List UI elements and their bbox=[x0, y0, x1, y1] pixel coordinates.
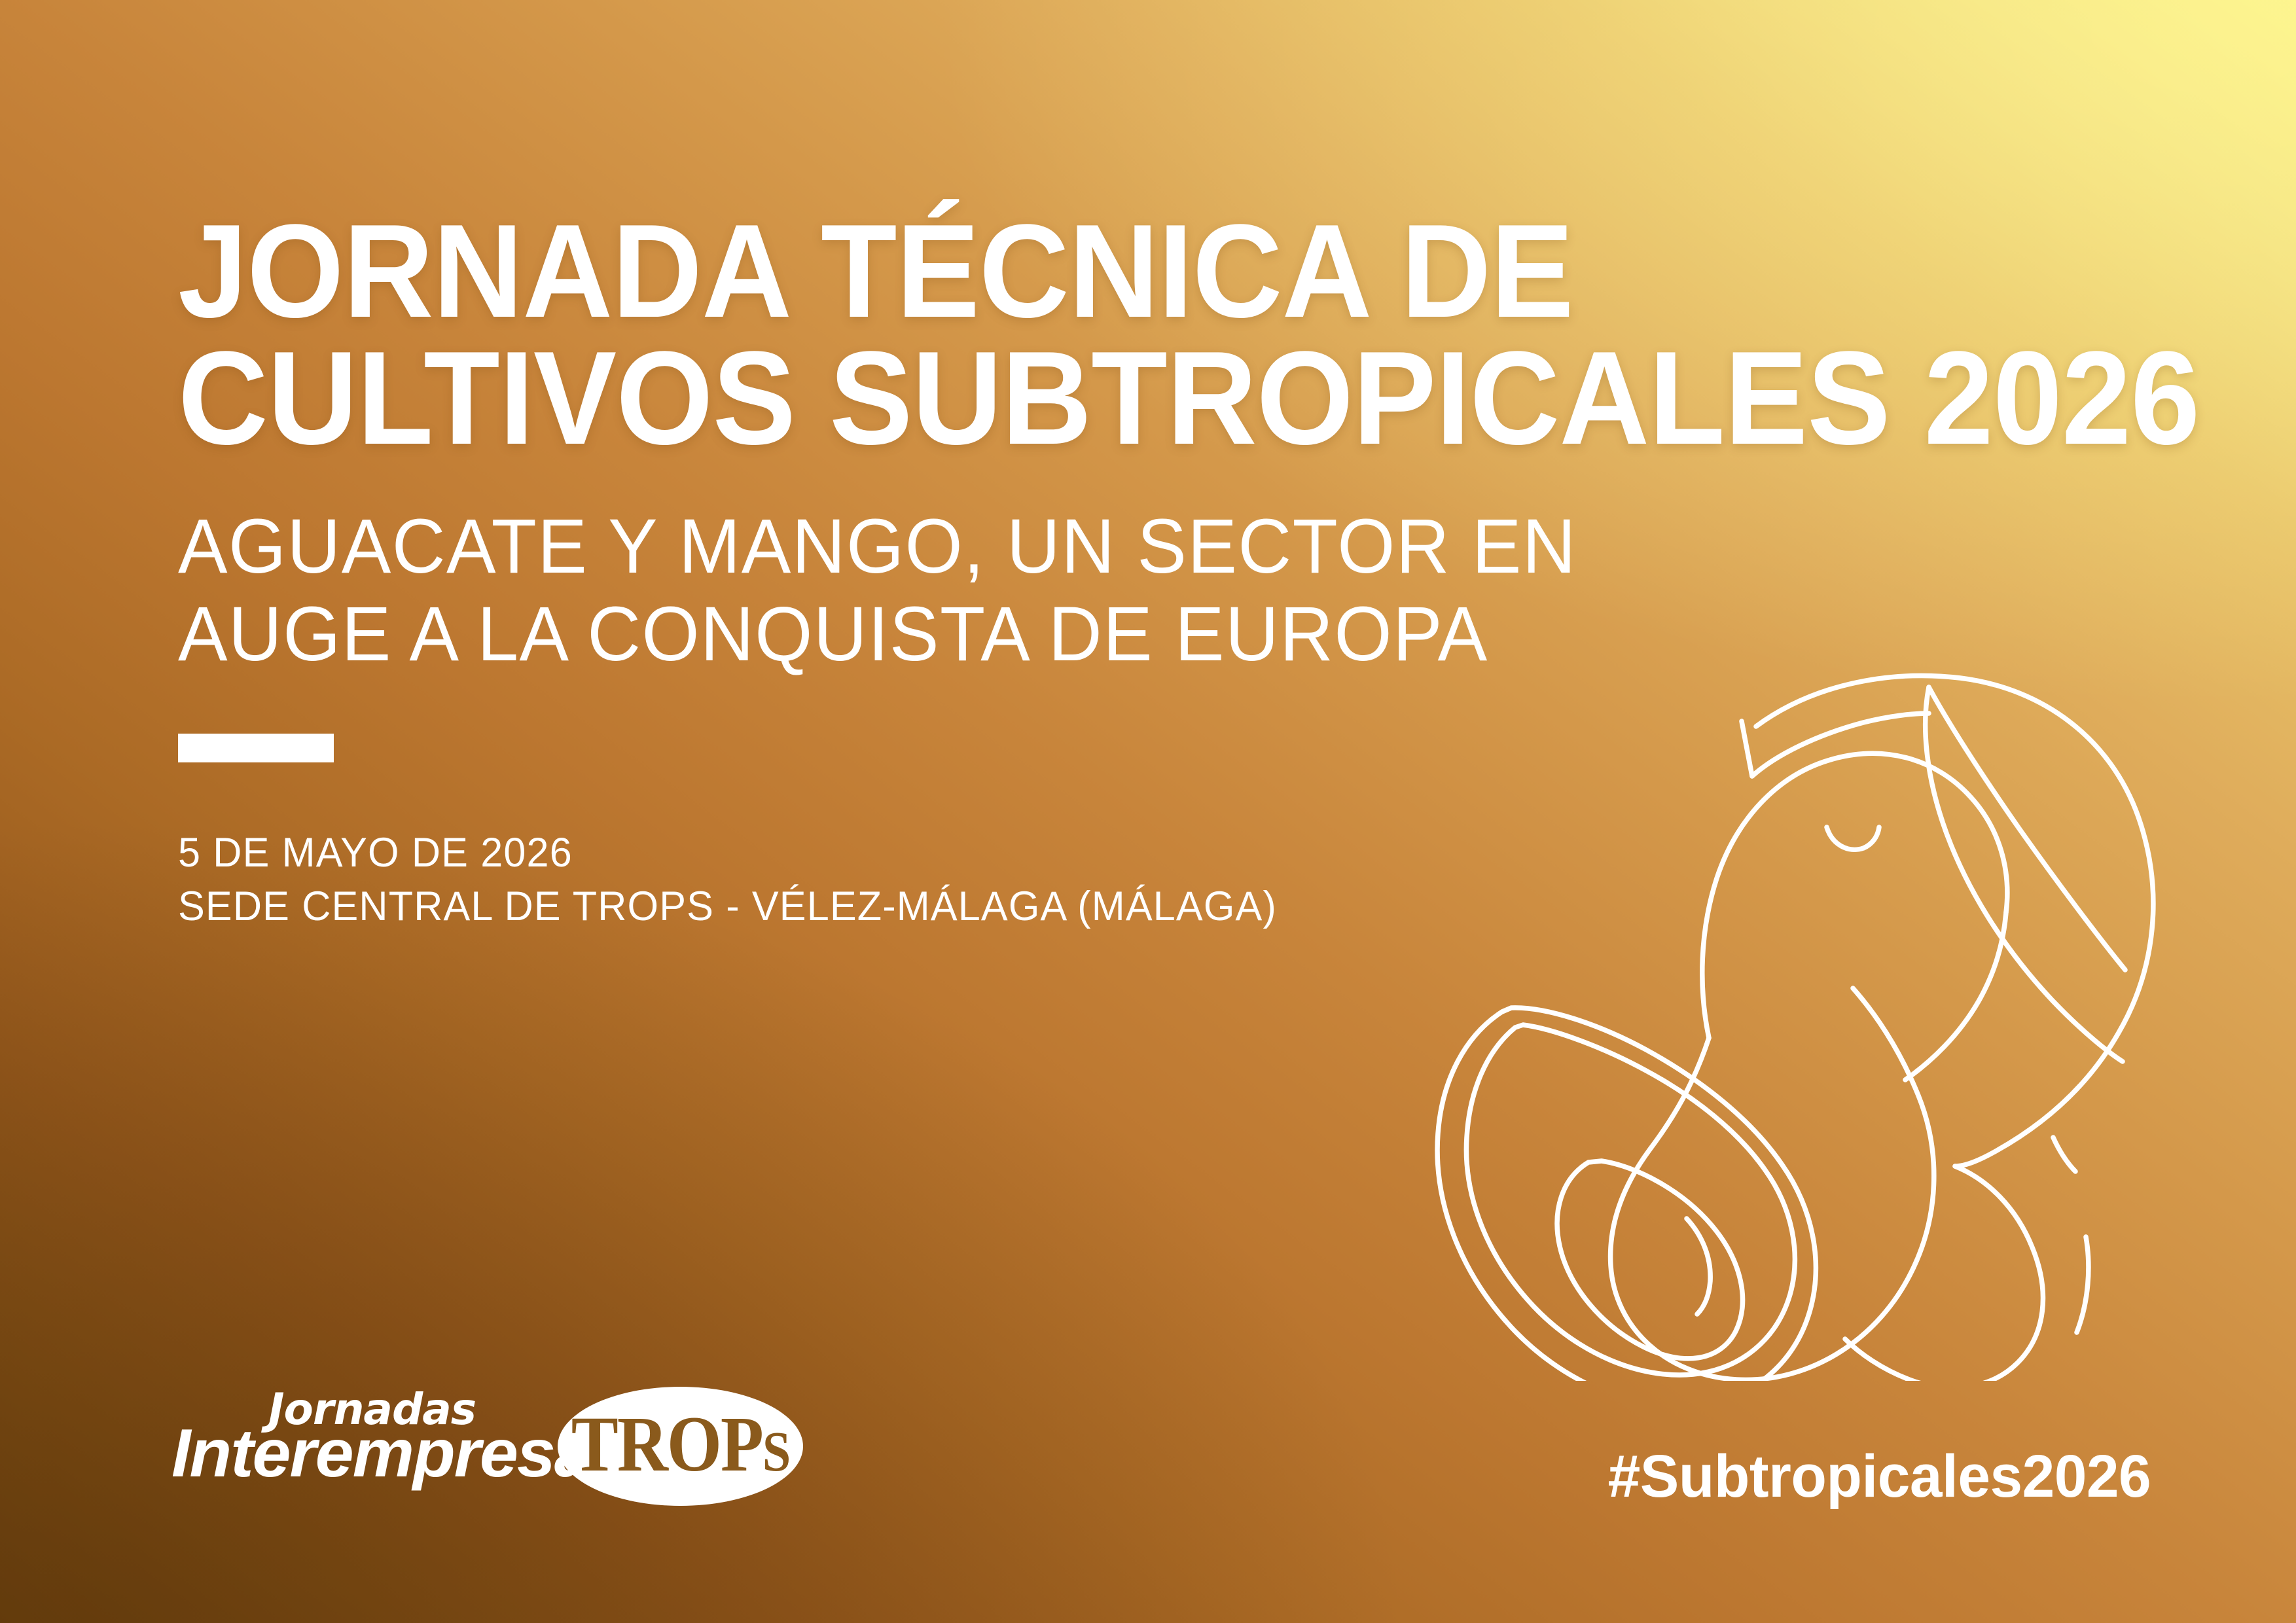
trops-word-main: TROP bbox=[571, 1401, 762, 1488]
avocado-pit-highlight bbox=[1687, 1219, 1710, 1314]
headline-line-2: CULTIVOS SUBTROPICALES 2026 bbox=[178, 335, 2060, 462]
interempresas-logo[interactable]: Jornadas Interempresas bbox=[171, 1384, 479, 1508]
subhead-line-1: AGUACATE Y MANGO, UN SECTOR EN bbox=[178, 503, 2101, 591]
trops-wordmark: TROPS bbox=[571, 1405, 789, 1487]
mango-lower-highlight bbox=[2077, 1237, 2089, 1332]
poster-canvas: JORNADA TÉCNICA DE CULTIVOS SUBTROPICALE… bbox=[0, 0, 2296, 1623]
event-date: 5 DE MAYO DE 2026 bbox=[178, 827, 2121, 880]
text-column: JORNADA TÉCNICA DE CULTIVOS SUBTROPICALE… bbox=[178, 208, 2181, 934]
avocado-half-skin bbox=[1437, 1008, 1816, 1381]
event-hashtag: #Subtropicales2026 bbox=[1607, 1446, 2151, 1507]
subhead-line-2: AUGE A LA CONQUISTA DE EUROPA bbox=[178, 590, 2101, 679]
headline-line-1: JORNADA TÉCNICA DE bbox=[178, 208, 2060, 335]
mango-highlight-tick bbox=[2053, 1137, 2075, 1171]
avocado-half-pit bbox=[1557, 1161, 1742, 1359]
interempresas-main-word: Interempresas bbox=[171, 1419, 629, 1488]
event-details: 5 DE MAYO DE 2026 SEDE CENTRAL DE TROPS … bbox=[178, 827, 2121, 934]
trops-logo[interactable]: TROPS bbox=[558, 1387, 803, 1506]
logo-row: Jornadas Interempresas TROPS bbox=[171, 1384, 803, 1508]
avocado-whole-right-join bbox=[1905, 912, 2006, 1080]
mango-lower-lobe bbox=[1845, 1166, 2043, 1381]
page-subtitle: AGUACATE Y MANGO, UN SECTOR EN AUGE A LA… bbox=[178, 503, 2101, 679]
page-title: JORNADA TÉCNICA DE CULTIVOS SUBTROPICALE… bbox=[178, 208, 2060, 462]
event-venue: SEDE CENTRAL DE TROPS - VÉLEZ-MÁLAGA (MÁ… bbox=[178, 880, 2121, 934]
divider-rule bbox=[178, 734, 334, 762]
trops-word-s: S bbox=[762, 1419, 789, 1483]
